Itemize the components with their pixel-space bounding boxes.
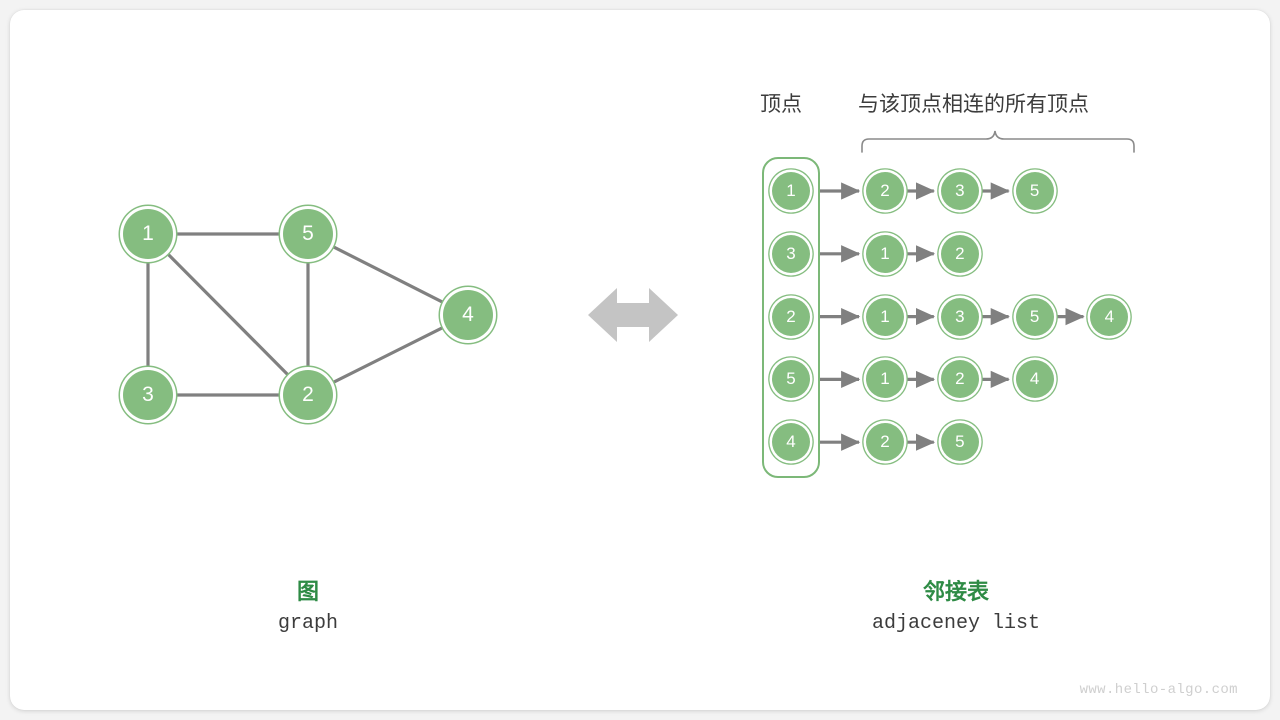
adjlist-neighbor-4-2: 2 bbox=[866, 423, 904, 461]
adjlist-neighbor-3-1: 1 bbox=[866, 235, 904, 273]
adjlist-vertex-1: 1 bbox=[772, 172, 810, 210]
adjlist-neighbor-3-2: 2 bbox=[941, 235, 979, 273]
caption-adjlist-cn: 邻接表 bbox=[856, 574, 1056, 606]
graph-vertex-2: 2 bbox=[283, 370, 333, 420]
adjlist-neighbor-2-1: 1 bbox=[866, 298, 904, 336]
adjlist-neighbor-4-5: 5 bbox=[941, 423, 979, 461]
diagram-canvas: 15423 1235312213545124425 顶点 与该顶点相连的所有顶点… bbox=[0, 0, 1280, 720]
adjlist-neighbor-5-4: 4 bbox=[1016, 360, 1054, 398]
adjlist-neighbor-2-4: 4 bbox=[1090, 298, 1128, 336]
adjlist-vertex-4: 4 bbox=[772, 423, 810, 461]
graph-vertex-1: 1 bbox=[123, 209, 173, 259]
watermark: www.hello-algo.com bbox=[1080, 682, 1238, 698]
adjlist-neighbor-2-3: 3 bbox=[941, 298, 979, 336]
header-vertex: 顶点 bbox=[760, 88, 802, 118]
header-neighbors: 与该顶点相连的所有顶点 bbox=[858, 88, 1089, 118]
caption-graph-cn: 图 bbox=[208, 574, 408, 606]
adjlist-vertex-3: 3 bbox=[772, 235, 810, 273]
adjlist-neighbor-1-3: 3 bbox=[941, 172, 979, 210]
caption-graph-en: graph bbox=[208, 612, 408, 635]
adjlist-vertex-2: 2 bbox=[772, 298, 810, 336]
adjlist-neighbor-1-2: 2 bbox=[866, 172, 904, 210]
adjlist-neighbor-1-5: 5 bbox=[1016, 172, 1054, 210]
adjlist-neighbor-5-2: 2 bbox=[941, 360, 979, 398]
graph-vertex-5: 5 bbox=[283, 209, 333, 259]
graph-vertex-4: 4 bbox=[443, 290, 493, 340]
adjlist-neighbor-2-5: 5 bbox=[1016, 298, 1054, 336]
caption-adjlist-en: adjaceney list bbox=[856, 612, 1056, 635]
graph-vertex-3: 3 bbox=[123, 370, 173, 420]
